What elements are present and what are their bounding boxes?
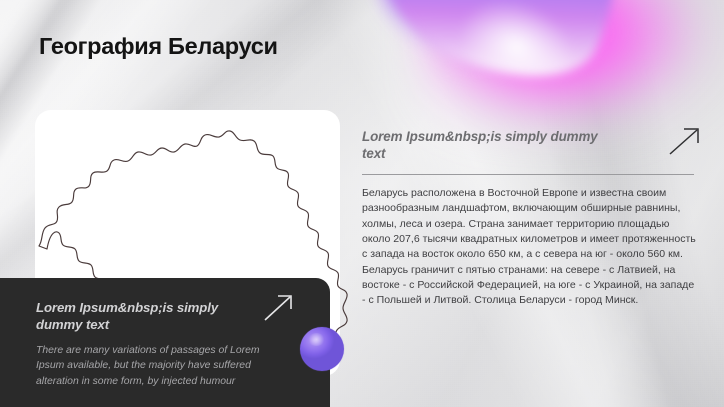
page-title: География Беларуси bbox=[39, 33, 278, 60]
right-panel-body: Беларусь расположена в Восточной Европе … bbox=[362, 186, 696, 309]
dark-card-heading: Lorem Ipsum&nbsp;is simply dummy text bbox=[36, 300, 268, 334]
arrow-up-right-icon[interactable] bbox=[666, 124, 704, 158]
dark-card-body: There are many variations of passages of… bbox=[36, 343, 268, 389]
right-panel-heading: Lorem Ipsum&nbsp;is simply dummy text bbox=[362, 128, 606, 163]
purple-gradient-sphere bbox=[300, 327, 344, 371]
right-text-panel: Lorem Ipsum&nbsp;is simply dummy text Бе… bbox=[362, 128, 698, 309]
sphere-highlight bbox=[308, 333, 325, 346]
dark-card-content: Lorem Ipsum&nbsp;is simply dummy text Th… bbox=[36, 300, 268, 389]
slide-canvas: География Беларуси Lorem Ipsum&nbsp;is s… bbox=[0, 0, 724, 407]
purple-magenta-gradient-blob bbox=[380, 0, 724, 140]
right-panel-divider bbox=[362, 174, 694, 175]
dark-info-card[interactable]: Lorem Ipsum&nbsp;is simply dummy text Th… bbox=[0, 278, 330, 407]
right-panel-heading-row: Lorem Ipsum&nbsp;is simply dummy text bbox=[362, 128, 698, 163]
arrow-up-right-icon[interactable] bbox=[261, 292, 297, 324]
